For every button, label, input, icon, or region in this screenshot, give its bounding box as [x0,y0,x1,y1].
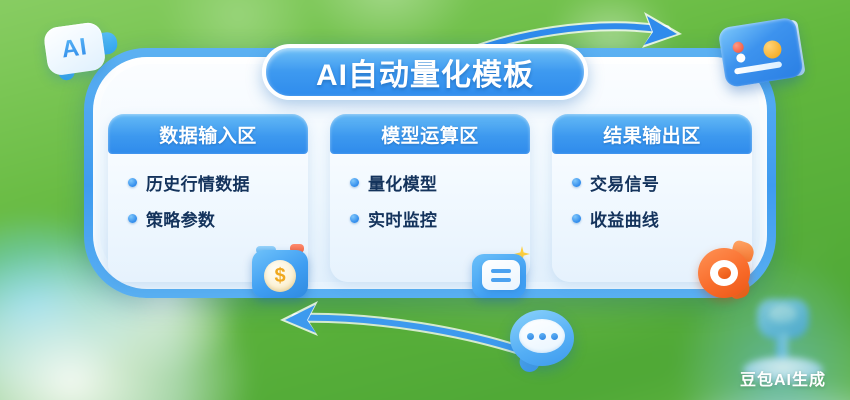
card-header: 数据输入区 [108,114,308,154]
device-bar [734,61,782,74]
card-header: 模型运算区 [330,114,530,154]
ai-badge-label: AI [60,33,90,64]
device-shell [717,17,803,88]
card-header-label: 数据输入区 [159,121,257,148]
list-item: 历史行情数据 [128,170,308,195]
list-item-label: 策略参数 [146,206,215,231]
target-ring [710,260,738,286]
money-coin: $ [264,260,296,292]
chat-dot-2 [539,333,546,340]
bullet-dot-icon [350,178,359,187]
card-row: 数据输入区 历史行情数据 策略参数 $ 模型运算区 [108,114,752,284]
watermark-label: 豆包AI生成 [740,366,826,390]
card-data-input[interactable]: 数据输入区 历史行情数据 策略参数 $ [108,114,308,282]
bullet-dot-icon [572,214,581,223]
equals-bar-top [491,269,511,273]
list-item-label: 实时监控 [368,206,437,231]
equals-bar-bottom [491,278,511,282]
watering-can-opening [769,305,797,323]
chat-equals-panel [482,260,520,290]
list-item: 交易信号 [572,170,752,195]
card-body: 量化模型 实时监控 [330,154,530,231]
card-header-label: 模型运算区 [381,121,479,148]
target-center-dot [718,267,731,279]
orange-target-icon [692,240,756,300]
bullet-dot-icon [128,178,137,187]
list-item: 量化模型 [350,170,530,195]
ai-badge-icon: AI [40,15,122,87]
device-dot-white [736,53,746,63]
dollar-symbol: $ [274,266,285,286]
bullet-dot-icon [572,178,581,187]
card-body: 交易信号 收益曲线 [552,154,752,231]
curved-arrow-left-icon [240,300,550,370]
card-header: 结果输出区 [552,114,752,154]
page-title-label: AI自动量化模板 [316,50,534,94]
card-model-compute[interactable]: 模型运算区 量化模型 实时监控 [330,114,530,282]
bullet-dot-icon [350,214,359,223]
chat-dot-3 [551,333,558,340]
chat-dot-1 [527,333,534,340]
page-title: AI自动量化模板 [262,44,588,100]
list-item-label: 量化模型 [368,170,437,195]
device-dot-orange [762,39,783,60]
chat-bubble-inner [519,319,565,353]
card-result-output[interactable]: 结果输出区 交易信号 收益曲线 [552,114,752,282]
list-item-label: 交易信号 [590,170,659,195]
list-item: 策略参数 [128,206,308,231]
ai-badge-plate: AI [43,21,107,77]
blue-card-device-icon [717,16,808,92]
list-item-label: 收益曲线 [590,206,659,231]
chat-equals-icon [470,240,534,300]
card-header-label: 结果输出区 [603,121,701,148]
chat-bubble-icon [510,310,576,374]
device-dot-red [732,41,745,54]
bullet-dot-icon [128,214,137,223]
list-item-label: 历史行情数据 [146,170,250,195]
card-body: 历史行情数据 策略参数 [108,154,308,231]
list-item: 实时监控 [350,206,530,231]
money-camera-icon: $ [248,240,312,300]
list-item: 收益曲线 [572,206,752,231]
